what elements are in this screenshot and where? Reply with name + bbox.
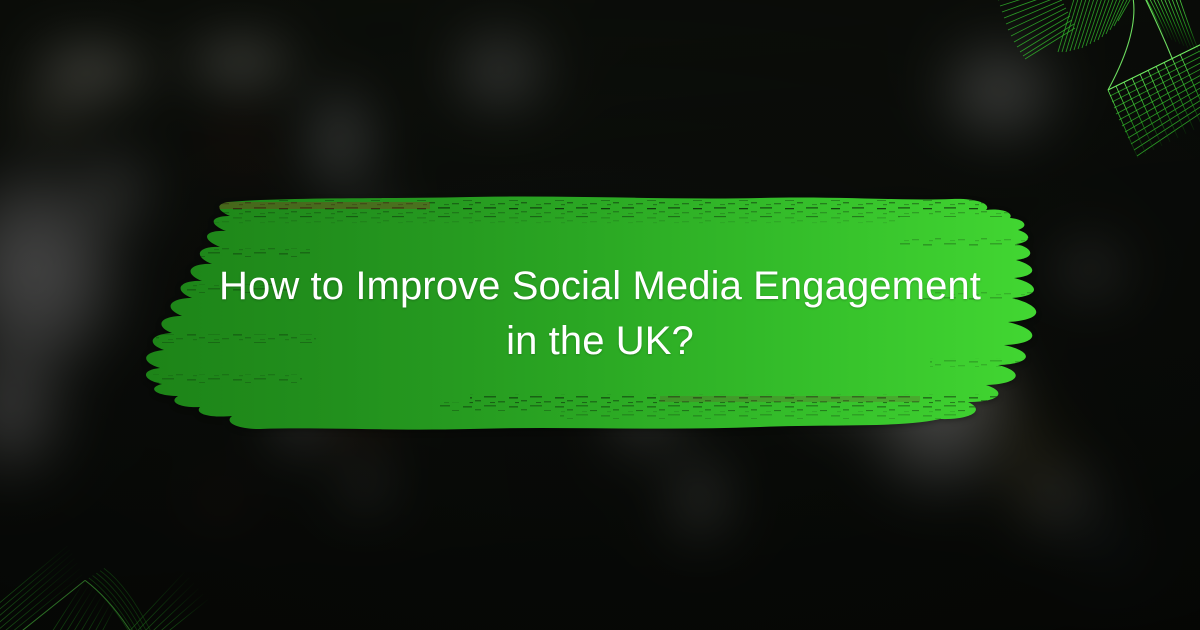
title-container: How to Improve Social Media Engagement i… [170,188,1030,440]
social-media-banner: How to Improve Social Media Engagement i… [0,0,1200,630]
page-title: How to Improve Social Media Engagement i… [210,259,990,369]
